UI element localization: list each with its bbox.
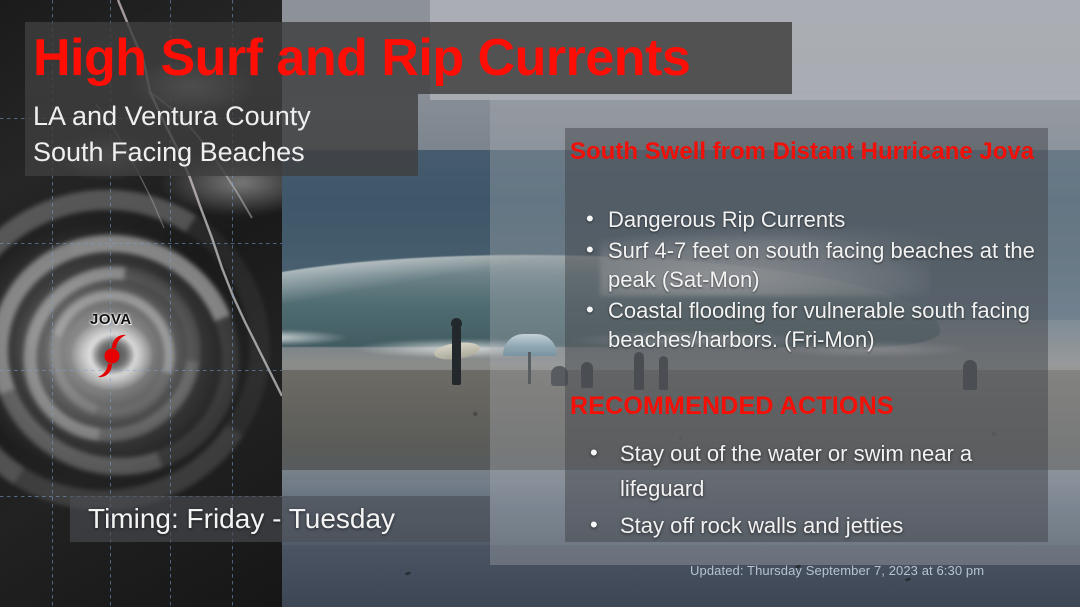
page-title: High Surf and Rip Currents <box>33 24 690 92</box>
actions-bullet-list: Stay out of the water or swim near a lif… <box>578 436 1048 545</box>
list-item: Coastal flooding for vulnerable south fa… <box>578 296 1048 354</box>
surfer-silhouette <box>452 325 461 385</box>
timing-label: Timing: Friday - Tuesday <box>88 500 395 538</box>
subtitle-area: LA and Ventura County South Facing Beach… <box>33 98 311 170</box>
subtitle-line-1: LA and Ventura County <box>33 98 311 134</box>
list-item: Stay out of the water or swim near a lif… <box>578 436 1048 506</box>
hazard-panel-heading: South Swell from Distant Hurricane Jova <box>570 134 1040 169</box>
actions-panel-heading: RECOMMENDED ACTIONS <box>570 392 1040 421</box>
list-item: Dangerous Rip Currents <box>578 205 1048 234</box>
storm-name-label: JOVA <box>90 311 132 328</box>
updated-timestamp: Updated: Thursday September 7, 2023 at 6… <box>690 563 984 578</box>
list-item: Stay off rock walls and jetties <box>578 508 1048 543</box>
surfer-head <box>451 318 462 329</box>
hurricane-symbol <box>92 332 132 380</box>
list-item: Surf 4-7 feet on south facing beaches at… <box>578 236 1048 294</box>
grid-line-horizontal <box>0 243 282 244</box>
grid-line-horizontal <box>0 370 282 371</box>
hazard-bullet-list: Dangerous Rip Currents Surf 4-7 feet on … <box>578 205 1048 356</box>
weather-graphic: JOVA High Surf and Rip Currents LA and V… <box>0 0 1080 607</box>
subtitle-line-2: South Facing Beaches <box>33 134 311 170</box>
